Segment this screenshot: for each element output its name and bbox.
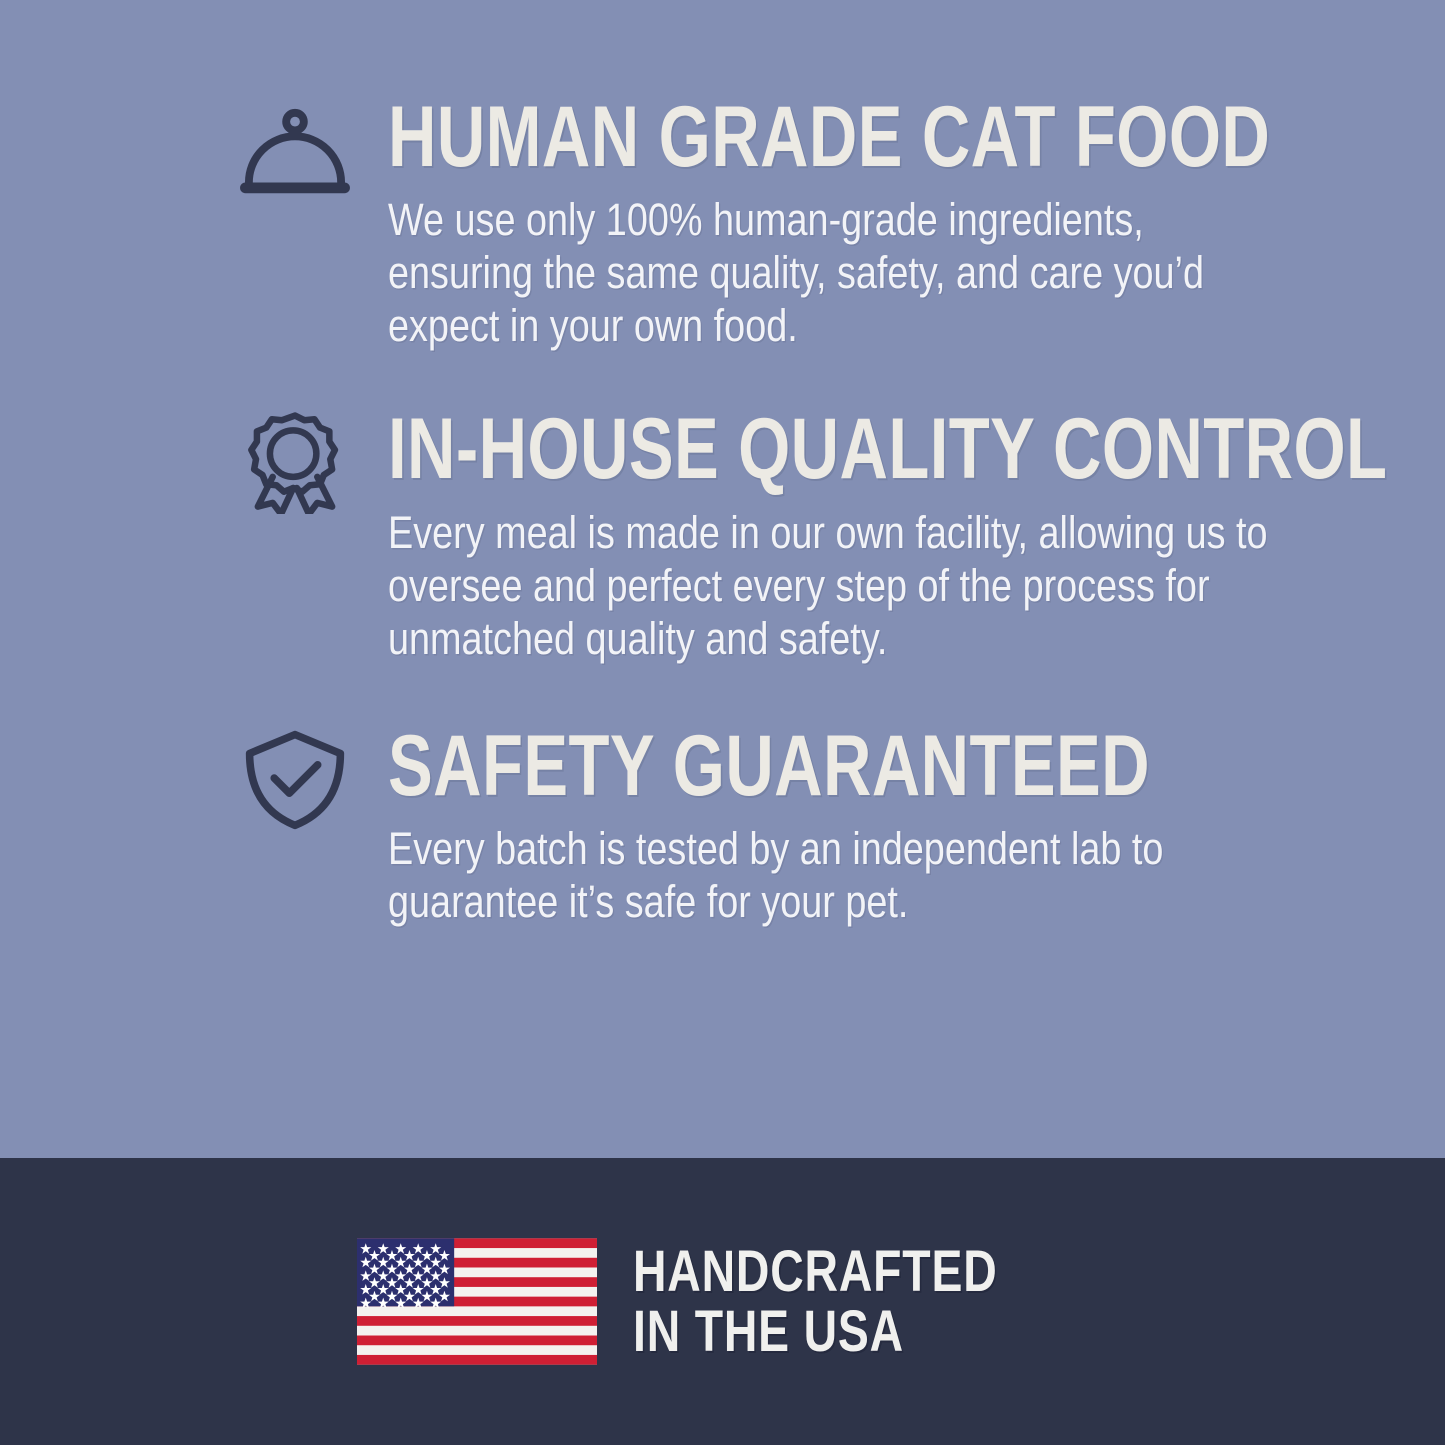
award-ribbon-icon <box>236 410 354 514</box>
cloche-icon <box>236 102 354 206</box>
feature-item-quality-control: IN-HOUSE QUALITY CONTROL Every meal is m… <box>236 410 1295 664</box>
feature-title: HUMAN GRADE CAT FOOD <box>388 98 1095 177</box>
shield-check-icon <box>236 727 354 831</box>
feature-title: IN-HOUSE QUALITY CONTROL <box>388 410 1095 489</box>
feature-body: Every meal is made in our own facility, … <box>388 506 1295 665</box>
footer-bar: HANDCRAFTED IN THE USA <box>0 1158 1445 1445</box>
footer-line-in-the-usa: IN THE USA <box>633 1302 998 1361</box>
feature-title: SAFETY GUARANTEED <box>388 727 1095 806</box>
feature-body: We use only 100% human-grade ingredients… <box>388 193 1295 352</box>
feature-body: Every batch is tested by an independent … <box>388 822 1295 928</box>
promo-poster: HUMAN GRADE CAT FOOD We use only 100% hu… <box>0 0 1445 1445</box>
usa-flag-icon <box>357 1238 597 1365</box>
feature-item-human-grade: HUMAN GRADE CAT FOOD We use only 100% hu… <box>236 98 1295 352</box>
footer-text-block: HANDCRAFTED IN THE USA <box>633 1242 1089 1360</box>
footer-line-handcrafted: HANDCRAFTED <box>633 1242 998 1301</box>
features-list: HUMAN GRADE CAT FOOD We use only 100% hu… <box>0 0 1445 1158</box>
feature-item-safety: SAFETY GUARANTEED Every batch is tested … <box>236 727 1295 928</box>
